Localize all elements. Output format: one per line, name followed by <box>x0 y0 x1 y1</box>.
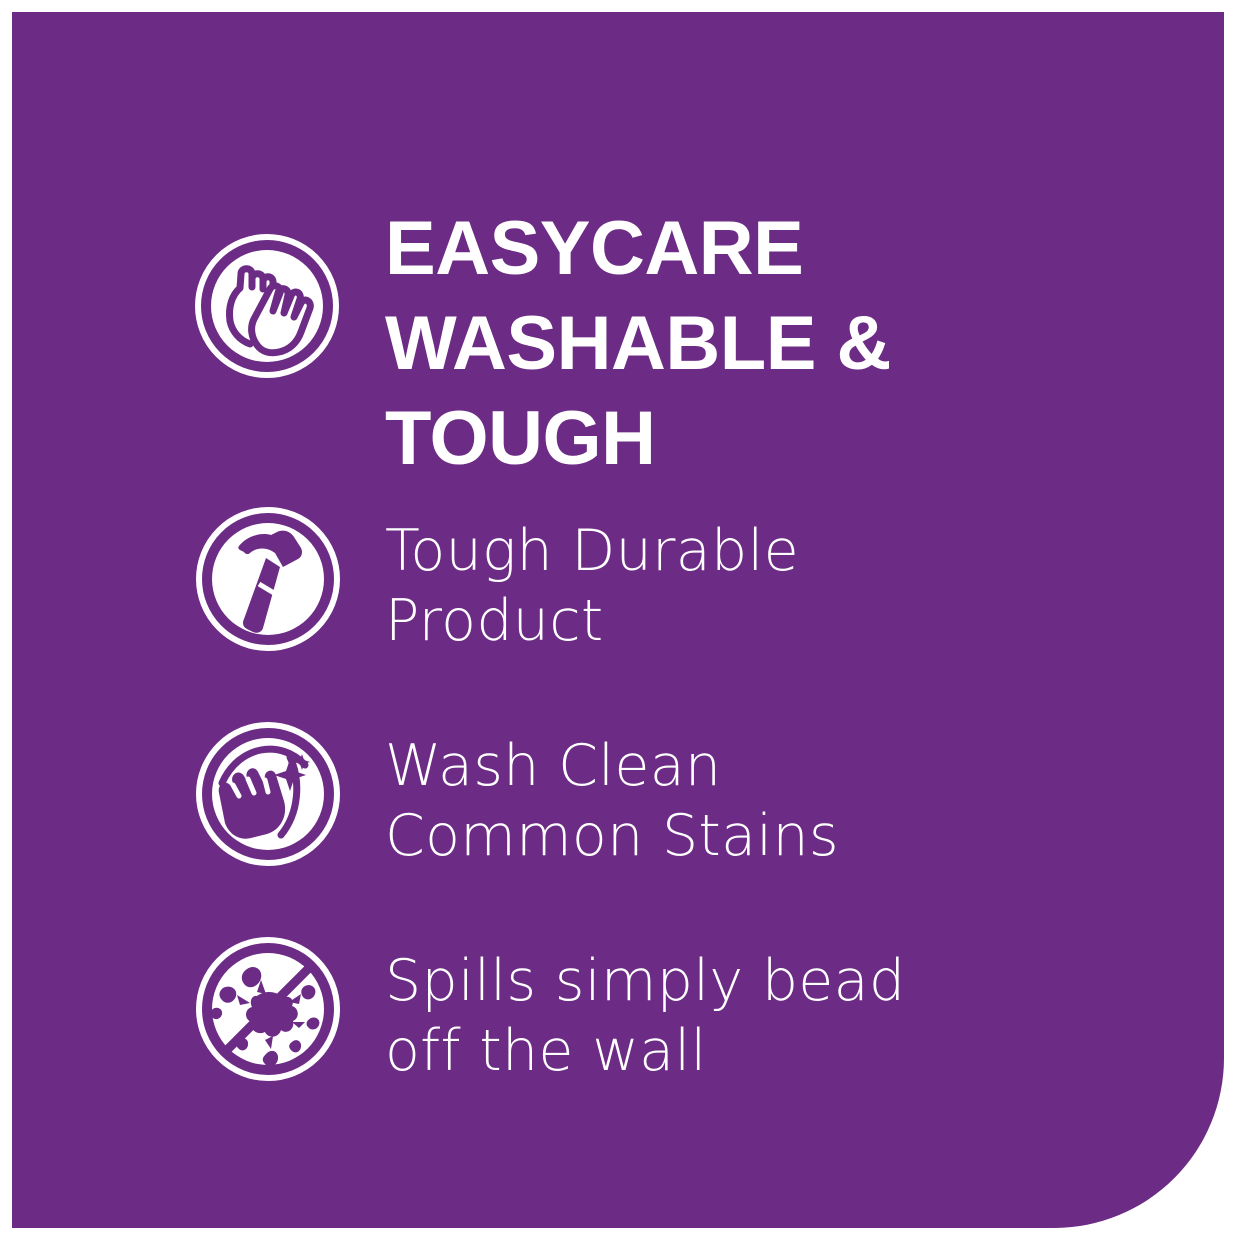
feature-row: Spills simply bead off the wall <box>12 936 1224 1086</box>
headline-line-3: TOUGH <box>385 391 1175 486</box>
feature-line-2: off the wall <box>385 1016 1185 1086</box>
hand-wiping-sparkle-icon <box>195 721 341 867</box>
feature-line-1: Spills simply bead <box>385 946 1185 1016</box>
headline-line-2: WASHABLE & <box>385 296 1175 391</box>
no-stains-splat-icon <box>195 936 341 1082</box>
feature-line-2: Product <box>385 586 1185 656</box>
feature-line-2: Common Stains <box>385 801 1185 871</box>
easycare-feature-card: EASYCARE WASHABLE & TOUGH Tough Durable <box>12 12 1224 1228</box>
feature-line-1: Wash Clean <box>385 731 1185 801</box>
feature-text: Spills simply bead off the wall <box>385 946 1185 1086</box>
page-title: EASYCARE WASHABLE & TOUGH <box>385 201 1175 486</box>
feature-row: Tough Durable Product <box>12 506 1224 656</box>
hammer-icon <box>195 506 341 652</box>
headline-line-1: EASYCARE <box>385 201 1175 296</box>
washing-hands-icon <box>194 233 340 379</box>
feature-line-1: Tough Durable <box>385 516 1185 586</box>
feature-text: Tough Durable Product <box>385 516 1185 656</box>
feature-row: Wash Clean Common Stains <box>12 721 1224 871</box>
feature-text: Wash Clean Common Stains <box>385 731 1185 871</box>
